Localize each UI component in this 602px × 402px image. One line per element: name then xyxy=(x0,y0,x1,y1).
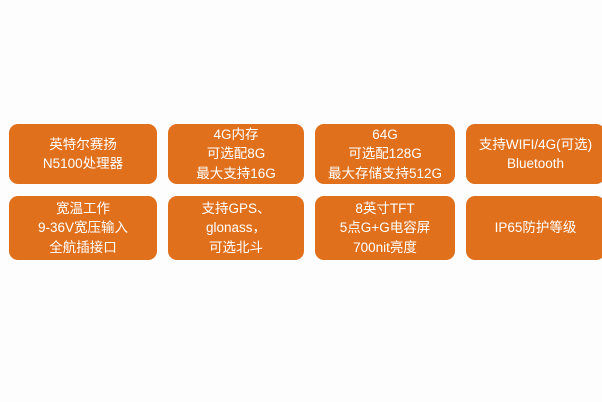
spec-line: 4G内存 xyxy=(196,125,276,144)
storage-spec-card[interactable]: 64G 可选配128G 最大存储支持512G xyxy=(315,124,455,184)
spec-line: 可选配128G xyxy=(328,144,442,163)
spec-line: N5100处理器 xyxy=(43,154,123,173)
spec-line: 最大存储支持512G xyxy=(328,164,442,183)
spec-board: 英特尔赛扬 N5100处理器 4G内存 可选配8G 最大支持16G 64G 可选… xyxy=(0,0,602,402)
spec-card-grid: 英特尔赛扬 N5100处理器 4G内存 可选配8G 最大支持16G 64G 可选… xyxy=(9,124,593,260)
spec-line: 64G xyxy=(328,125,442,144)
memory-spec-card[interactable]: 4G内存 可选配8G 最大支持16G xyxy=(168,124,304,184)
spec-line: 700nit亮度 xyxy=(340,238,430,257)
power-spec-card[interactable]: 宽温工作 9-36V宽压输入 全航插接口 xyxy=(9,196,157,260)
spec-line: 全航插接口 xyxy=(38,238,128,257)
spec-line: IP65防护等级 xyxy=(495,218,577,237)
spec-line: 9-36V宽压输入 xyxy=(38,218,128,237)
spec-line: Bluetooth xyxy=(479,154,592,173)
spec-line: 8英寸TFT xyxy=(340,199,430,218)
protection-spec-text: IP65防护等级 xyxy=(495,218,577,237)
spec-line: 宽温工作 xyxy=(38,199,128,218)
display-spec-card[interactable]: 8英寸TFT 5点G+G电容屏 700nit亮度 xyxy=(315,196,455,260)
spec-line: 英特尔赛扬 xyxy=(43,135,123,154)
spec-line: 支持GPS、 xyxy=(201,199,270,218)
positioning-spec-text: 支持GPS、 glonass， 可选北斗 xyxy=(201,199,270,256)
power-spec-text: 宽温工作 9-36V宽压输入 全航插接口 xyxy=(38,199,128,256)
storage-spec-text: 64G 可选配128G 最大存储支持512G xyxy=(328,125,442,182)
wireless-spec-card[interactable]: 支持WIFI/4G(可选) Bluetooth xyxy=(466,124,602,184)
wireless-spec-text: 支持WIFI/4G(可选) Bluetooth xyxy=(479,135,592,173)
spec-line: 可选配8G xyxy=(196,144,276,163)
processor-spec-card[interactable]: 英特尔赛扬 N5100处理器 xyxy=(9,124,157,184)
protection-spec-card[interactable]: IP65防护等级 xyxy=(466,196,602,260)
spec-line: glonass， xyxy=(201,218,270,237)
spec-line: 可选北斗 xyxy=(201,238,270,257)
spec-line: 支持WIFI/4G(可选) xyxy=(479,135,592,154)
spec-line: 5点G+G电容屏 xyxy=(340,218,430,237)
spec-line: 最大支持16G xyxy=(196,164,276,183)
display-spec-text: 8英寸TFT 5点G+G电容屏 700nit亮度 xyxy=(340,199,430,256)
processor-spec-text: 英特尔赛扬 N5100处理器 xyxy=(43,135,123,173)
memory-spec-text: 4G内存 可选配8G 最大支持16G xyxy=(196,125,276,182)
positioning-spec-card[interactable]: 支持GPS、 glonass， 可选北斗 xyxy=(168,196,304,260)
